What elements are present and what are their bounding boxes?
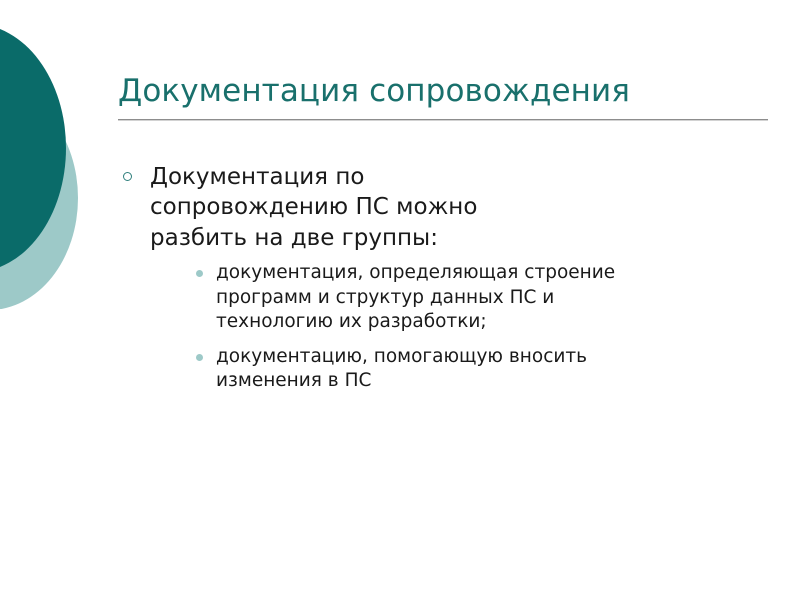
bullet-list-level2: документация, определяющая строение прог… [150, 261, 720, 394]
decorative-circle-light-icon [0, 86, 78, 310]
list-item: документация, определяющая строение прог… [192, 261, 720, 335]
list-item-label: документация, определяющая строение прог… [216, 261, 656, 335]
list-item: документацию, помогающую вносить изменен… [192, 345, 720, 394]
bullet-list-level1: Документация по сопровождению ПС можно р… [120, 162, 720, 394]
decorative-circle-dark-icon [0, 24, 66, 272]
hollow-circle-bullet-icon [123, 172, 132, 181]
title-divider [118, 119, 768, 121]
list-item-label: документацию, помогающую вносить изменен… [216, 345, 656, 394]
presentation-slide: Документация сопровождения Документация … [0, 0, 800, 600]
slide-body: Документация по сопровождению ПС можно р… [120, 162, 720, 396]
filled-dot-bullet-icon [196, 354, 203, 361]
list-item: Документация по сопровождению ПС можно р… [120, 162, 720, 394]
slide-title-block: Документация сопровождения [118, 74, 770, 121]
list-item-label: Документация по сопровождению ПС можно р… [150, 162, 550, 253]
filled-dot-bullet-icon [196, 270, 203, 277]
page-title: Документация сопровождения [118, 74, 770, 110]
